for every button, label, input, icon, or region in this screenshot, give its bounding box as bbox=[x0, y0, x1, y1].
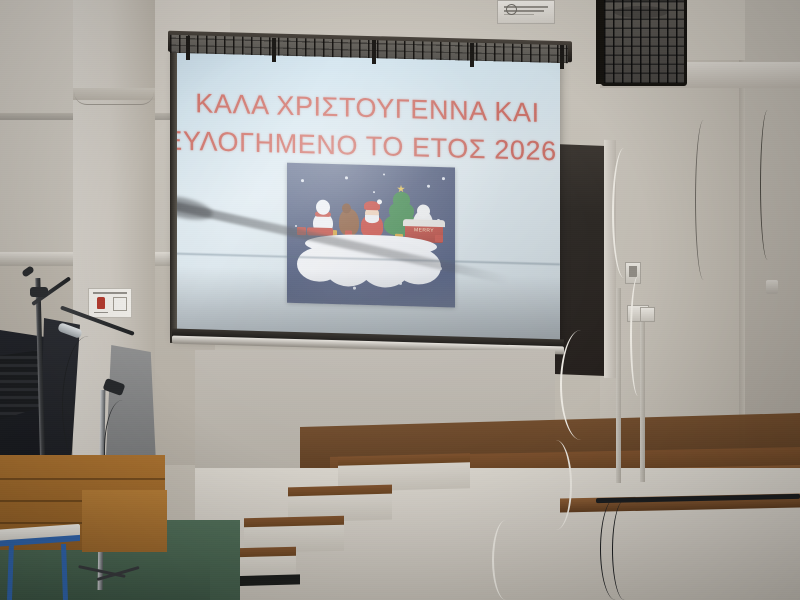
fire-safety-sign bbox=[88, 288, 132, 318]
wall-notice-placard bbox=[497, 0, 555, 24]
wall-hook bbox=[766, 280, 778, 294]
projection-screen: ΚΑΛΑ ΧΡΙΣΤΟΥΓΕΝΝΑ ΚΑΙ ΕΥΛΟΓΗΜΕΝΟ ΤΟ ΕΤΟΣ… bbox=[175, 48, 560, 349]
wooden-bench-step bbox=[82, 490, 167, 552]
screen-surface: ΚΑΛΑ ΧΡΙΣΤΟΥΓΕΝΝΑ ΚΑΙ ΕΥΛΟΓΗΜΕΝΟ ΤΟ ΕΤΟΣ… bbox=[175, 48, 560, 349]
wall-conduit bbox=[640, 322, 645, 482]
speaker-protective-cage bbox=[601, 0, 687, 86]
fire-extinguisher-icon bbox=[97, 297, 105, 309]
photo-scene: ΚΑΛΑ ΧΡΙΣΤΟΥΓΕΝΝΑ ΚΑΙ ΕΥΛΟΓΗΜΕΝΟ ΤΟ ΕΤΟΣ… bbox=[0, 0, 800, 600]
microphone-clutch[interactable] bbox=[30, 287, 48, 297]
screen-left-frame bbox=[170, 48, 177, 343]
wall-conduit bbox=[616, 288, 621, 483]
pillar-cable bbox=[74, 92, 154, 105]
